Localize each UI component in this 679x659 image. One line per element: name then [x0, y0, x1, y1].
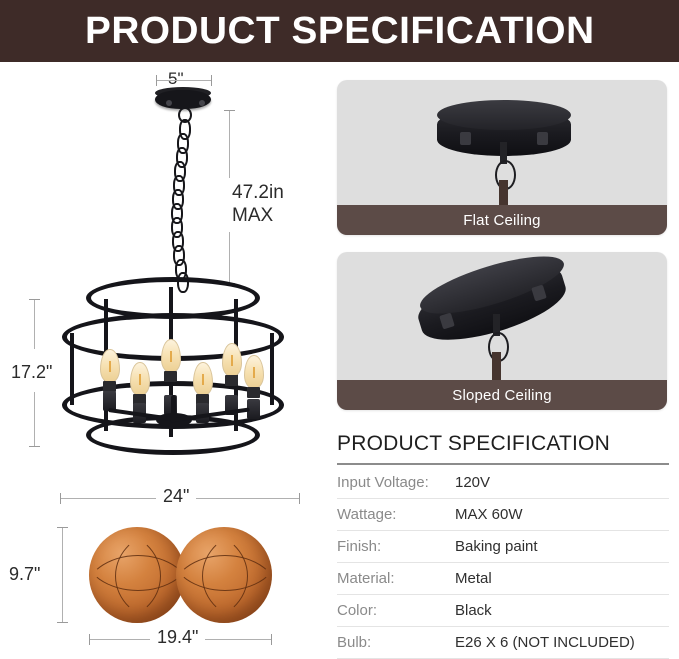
edison-bulb: [130, 362, 150, 396]
flat-ceiling-canopy-photo: [337, 80, 667, 205]
dimension-tick-left: [89, 634, 90, 645]
cage-strut: [70, 333, 74, 405]
specification-title-rule: [337, 463, 669, 465]
basketball-scale-reference: [89, 527, 185, 623]
dimension-label-balls-width: 19.4": [150, 627, 205, 648]
canopy-screw-right: [199, 100, 205, 106]
dimension-tick-right: [299, 493, 300, 504]
bulb-socket-base: [225, 375, 238, 386]
basketball-seam: [89, 527, 185, 591]
spec-key: Bulb:: [337, 634, 455, 651]
spec-row-input-voltage: Input Voltage: 120V: [337, 467, 669, 499]
mounting-caption-sloped-ceiling: Sloped Ceiling: [337, 380, 667, 410]
dimension-line-max-drop-upper: [229, 110, 230, 178]
spec-row-wattage: Wattage: MAX 60W: [337, 499, 669, 531]
dimension-line-fixture-height-upper: [34, 299, 35, 349]
edison-bulb: [222, 343, 242, 377]
dimension-tick-bottom: [57, 622, 68, 623]
dimension-tick-left: [156, 75, 157, 86]
dimension-label-fixture-height: 17.2": [11, 362, 52, 383]
right-column: Flat Ceiling Sloped Ceiling PRODUCT SPEC…: [325, 62, 679, 654]
spec-value: E26 X 6 (NOT INCLUDED): [455, 634, 635, 651]
hanging-rod: [499, 180, 508, 205]
spec-value: Baking paint: [455, 538, 538, 555]
spec-row-color: Color: Black: [337, 595, 669, 627]
basketball-seam: [176, 527, 272, 591]
dimension-tick-top: [224, 110, 235, 111]
canopy-disc-top: [437, 100, 571, 130]
spec-value: 120V: [455, 474, 490, 491]
hanging-rod: [492, 352, 501, 380]
spec-value: Metal: [455, 570, 492, 587]
chandelier-fixture: [58, 277, 288, 457]
spec-key: Input Voltage:: [337, 474, 455, 491]
edison-bulb: [100, 349, 120, 383]
mounting-card-flat-ceiling: Flat Ceiling: [337, 80, 667, 235]
specification-table-title: PRODUCT SPECIFICATION: [337, 432, 669, 463]
dimension-tick-top: [57, 527, 68, 528]
edison-bulb: [161, 339, 181, 373]
bulb-socket-base: [164, 371, 177, 382]
dimension-tick-right: [211, 75, 212, 86]
page-title: PRODUCT SPECIFICATION: [85, 12, 595, 50]
basketball-scale-reference: [176, 527, 272, 623]
dimension-line-ball-height: [62, 527, 63, 623]
spec-row-material: Material: Metal: [337, 563, 669, 595]
dimension-tick-bottom: [29, 446, 40, 447]
dimension-line-fixture-height-lower: [34, 392, 35, 447]
cage-strut: [270, 333, 274, 405]
page-header-banner: PRODUCT SPECIFICATION: [0, 0, 679, 62]
bulb-socket-base: [247, 387, 260, 398]
mounting-card-sloped-ceiling: Sloped Ceiling: [337, 252, 667, 410]
dimension-tick-top: [29, 299, 40, 300]
edison-bulb: [244, 355, 264, 389]
mounting-caption-flat-ceiling: Flat Ceiling: [337, 205, 667, 235]
edison-bulb: [193, 362, 213, 396]
spec-row-finish: Finish: Baking paint: [337, 531, 669, 563]
specification-table: PRODUCT SPECIFICATION Input Voltage: 120…: [337, 432, 669, 659]
dimension-line-canopy-width: [156, 80, 212, 81]
dimension-label-max-drop-unit: MAX: [232, 205, 273, 227]
dimension-label-canopy-width: 5": [168, 69, 184, 89]
spec-value: MAX 60W: [455, 506, 523, 523]
spec-value: Black: [455, 602, 492, 619]
spec-key: Color:: [337, 602, 455, 619]
dimension-label-max-drop-value: 47.2in: [232, 182, 284, 204]
dimension-tick-left: [60, 493, 61, 504]
dimension-label-fixture-width: 24": [156, 486, 196, 507]
spec-key: Finish:: [337, 538, 455, 555]
product-diagram: 5" 47.2in MAX 17.2": [0, 62, 325, 654]
spec-key: Wattage:: [337, 506, 455, 523]
spec-key: Material:: [337, 570, 455, 587]
dimension-tick-right: [271, 634, 272, 645]
canopy-screw-right: [537, 132, 548, 145]
canopy-screw-left: [460, 132, 471, 145]
canopy-screw-left: [166, 100, 172, 106]
spec-row-bulb: Bulb: E26 X 6 (NOT INCLUDED): [337, 627, 669, 659]
sloped-ceiling-canopy-photo: [337, 252, 667, 380]
hub-stem: [171, 395, 176, 423]
dimension-label-ball-height: 9.7": [9, 564, 40, 585]
